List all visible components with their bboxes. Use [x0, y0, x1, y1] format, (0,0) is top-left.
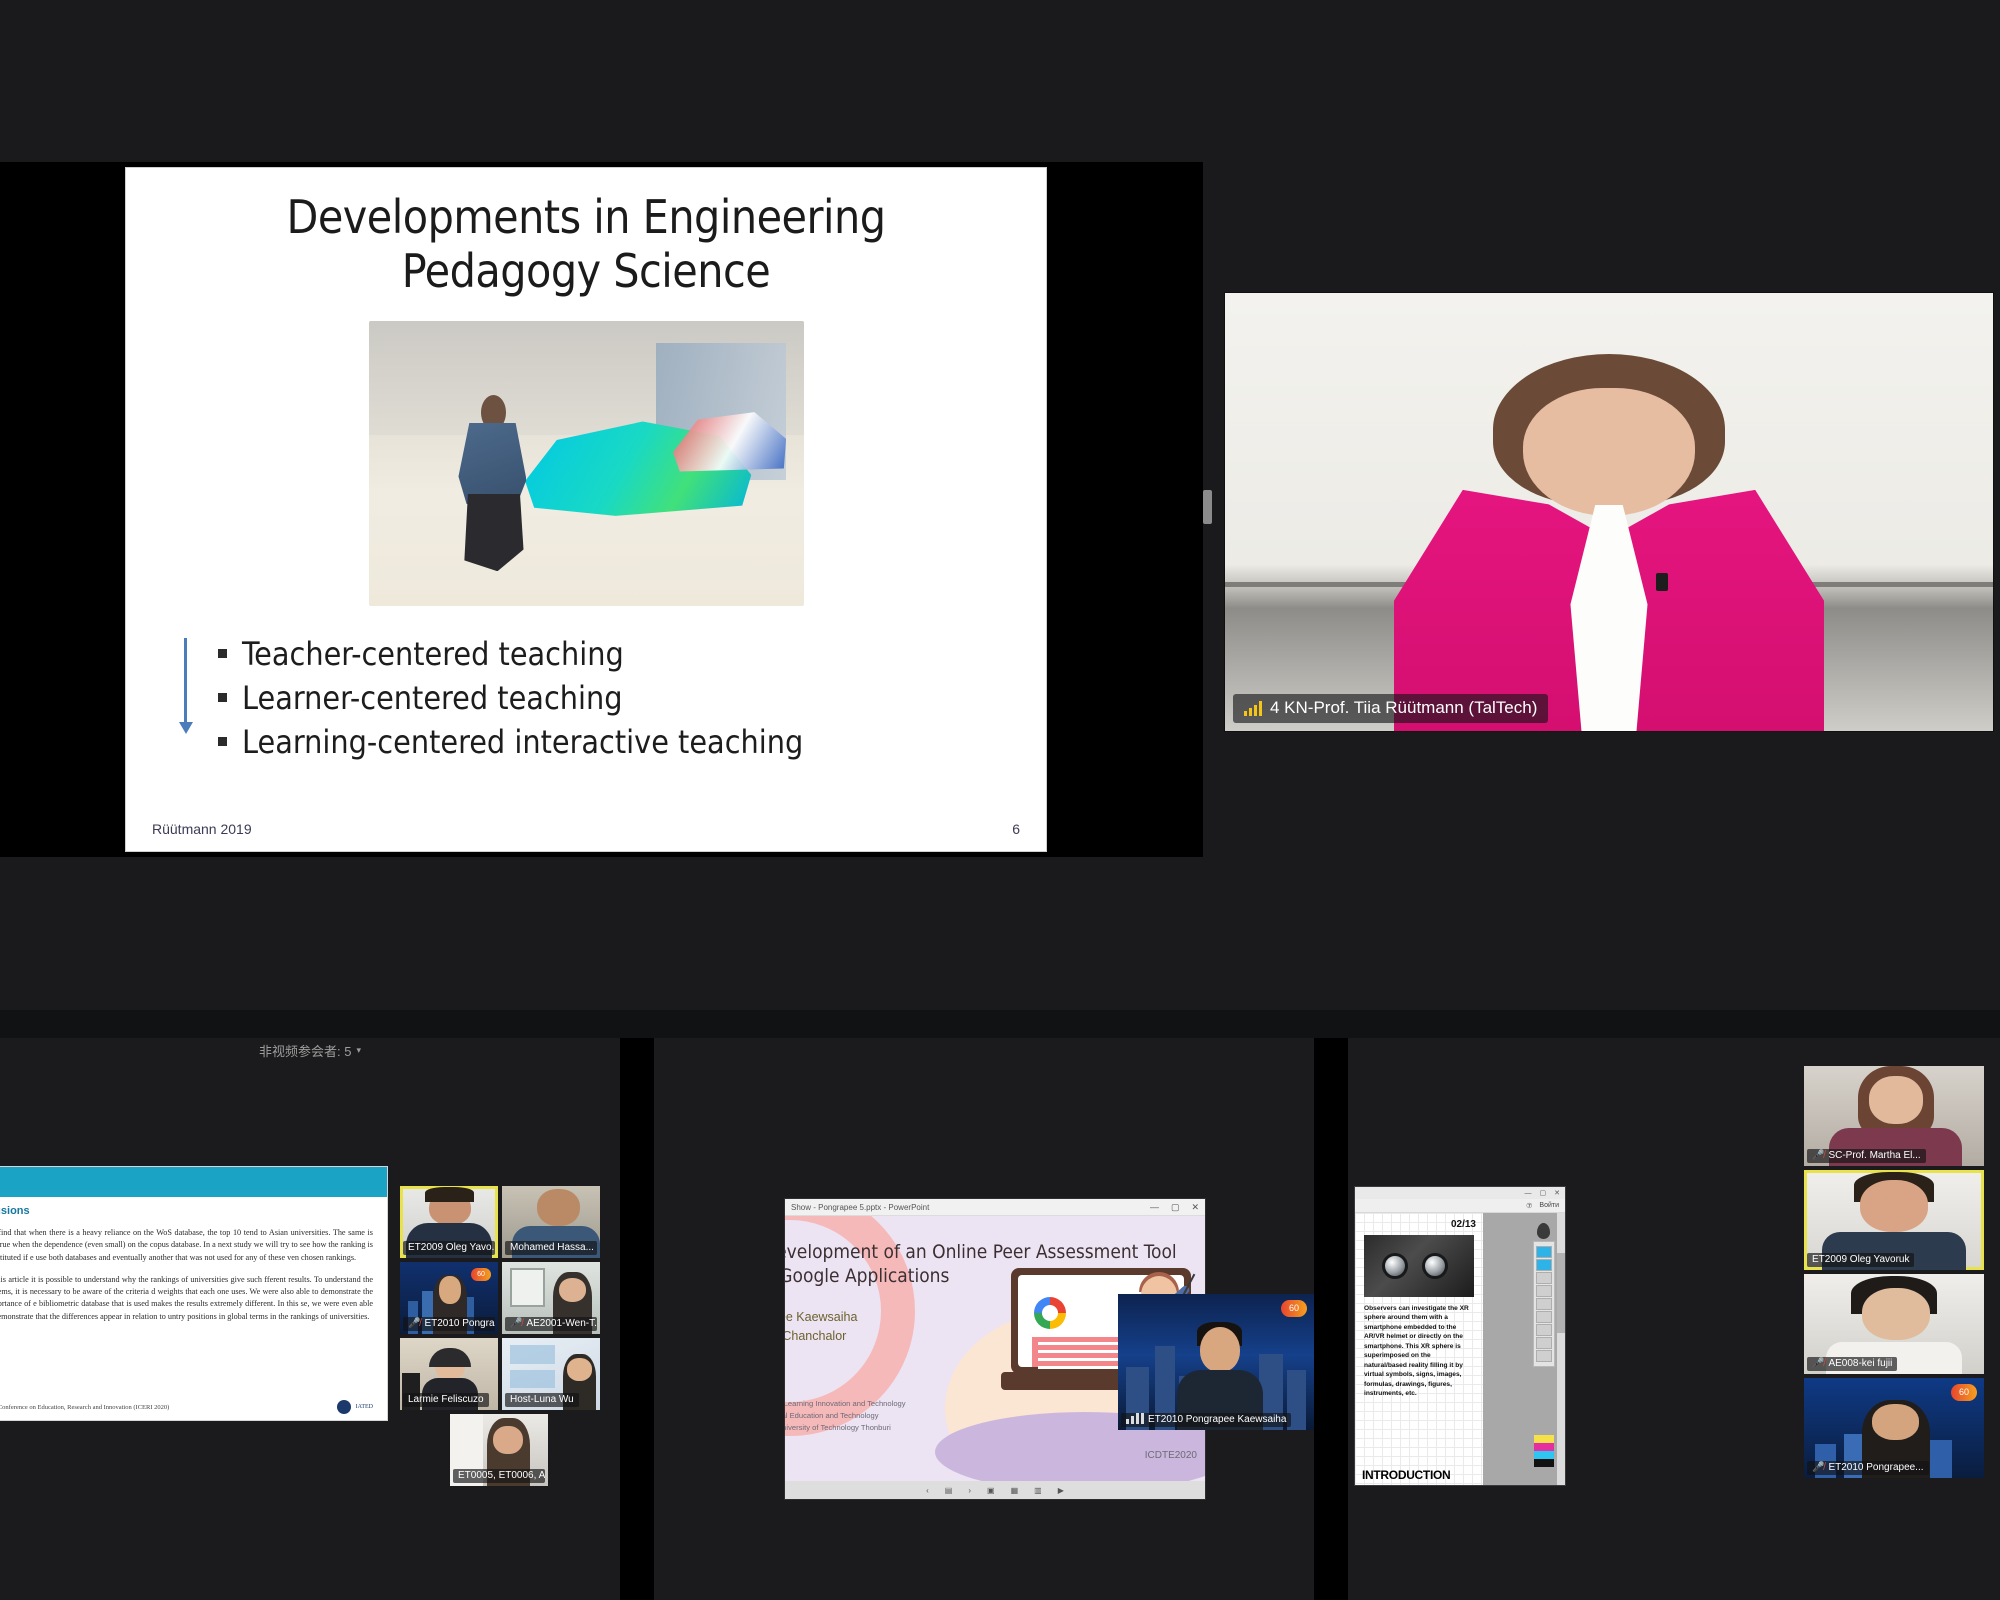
mic-muted-icon: 🎤̸: [1812, 1463, 1824, 1473]
ppt-affiliation: am in Learning Innovation and Technology…: [785, 1398, 906, 1447]
panel-right[interactable]: — ▢ ✕ ⑦ Войти 02/13 Observers can: [1348, 1038, 2000, 1600]
participant-name-text: ET0005, ET0006, A...: [458, 1470, 545, 1481]
document-paragraph: In this article it is possible to unders…: [0, 1274, 373, 1323]
document-header-band: [0, 1167, 387, 1197]
slide-image-ar-engineering: [369, 321, 804, 606]
eye-tool-icon[interactable]: [1536, 1246, 1552, 1258]
slide-footer: Rüütmann 2019 6: [126, 821, 1046, 837]
non-video-participants-label: 非视频参会者: 5: [259, 1041, 351, 1060]
participant-row: ET0005, ET0006, A...: [400, 1414, 600, 1486]
reading-view-icon[interactable]: ▥: [1034, 1486, 1042, 1495]
affiliation-line: dustrial Education and Technology: [785, 1410, 906, 1422]
clipboard-tool-icon[interactable]: [1536, 1350, 1552, 1362]
signin-button[interactable]: Войти: [1539, 1202, 1559, 1209]
maximize-icon[interactable]: ▢: [1171, 1202, 1180, 1213]
participant-name-text: ET2009 Oleg Yavo...: [408, 1242, 495, 1253]
pdf-canvas-area: [1483, 1213, 1565, 1485]
participant-name-label: Host-Luna Wu: [505, 1393, 579, 1407]
figure-torso: [458, 423, 526, 504]
affiliation-line: am in Learning Innovation and Technology: [785, 1398, 906, 1410]
participant-name-label: ET2009 Oleg Yavoruk: [1807, 1253, 1914, 1267]
dot-tool-icon[interactable]: [1536, 1298, 1552, 1310]
shape-tool-icon[interactable]: [1536, 1285, 1552, 1297]
chevron-down-icon[interactable]: ▾: [356, 1045, 361, 1056]
participant-tile[interactable]: 60 🎤̸ ET2010 Pongrapee...: [1804, 1378, 1984, 1478]
participant-name-text: Larmie Feliscuzo: [408, 1394, 484, 1405]
ppt-authors: apee Kaewsaiha ee Chanchalor: [785, 1308, 857, 1346]
participant-tile[interactable]: 🎤̸ AE008-kei fujii: [1804, 1274, 1984, 1374]
participant-name-text: AE2001-Wen-T...: [526, 1318, 597, 1329]
document-heading: clusions: [0, 1205, 387, 1217]
participant-tile[interactable]: Larmie Feliscuzo: [400, 1338, 498, 1410]
panel-left[interactable]: 非视频参会者: 5 ▾ clusions We find that when t…: [0, 1038, 620, 1600]
google-logo-icon: [1034, 1297, 1066, 1329]
mic-muted-icon: 🎤̸: [1812, 1359, 1824, 1369]
color-swatches[interactable]: [1534, 1435, 1554, 1469]
figure-head: [1200, 1327, 1240, 1373]
participant-row: ET2009 Oleg Yavo... Mohamed Hassa...: [400, 1186, 600, 1258]
note-tool-icon[interactable]: [1536, 1324, 1552, 1336]
participant-tile[interactable]: Mohamed Hassa...: [502, 1186, 600, 1258]
engineer-figure: [456, 395, 530, 572]
bullet-square-icon: [218, 737, 227, 746]
affiliation-line: ut's University of Technology Thonburi: [785, 1422, 906, 1434]
participant-name-text: SC-Prof. Martha El...: [1828, 1150, 1920, 1161]
participant-grid: ET2009 Oleg Yavo... Mohamed Hassa...: [400, 1186, 600, 1490]
maximize-icon[interactable]: ▢: [1540, 1189, 1547, 1197]
minimize-icon[interactable]: —: [1150, 1202, 1159, 1213]
pdf-reader-window[interactable]: — ▢ ✕ ⑦ Войти 02/13 Observers can: [1354, 1186, 1566, 1486]
vr-headset-photo: [1364, 1235, 1474, 1297]
speaker-name-label: 4 KN-Prof. Tiia Rüütmann (TalTech): [1233, 694, 1548, 723]
pdf-page-indicator: 02/13: [1362, 1219, 1476, 1230]
panel-divider: [1314, 1038, 1348, 1600]
bullet-item: Learner-centered teaching: [218, 676, 1046, 720]
help-icon[interactable]: ⑦: [1526, 1202, 1532, 1210]
vr-lens-right: [1422, 1253, 1448, 1279]
anniversary-logo: 60: [471, 1268, 491, 1281]
minimize-icon[interactable]: —: [1525, 1190, 1532, 1197]
close-icon[interactable]: ✕: [1191, 1202, 1199, 1213]
document-footer-text: onal Conference on Education, Research a…: [0, 1404, 169, 1411]
document-footer: onal Conference on Education, Research a…: [0, 1400, 387, 1414]
window-controls: — ▢ ✕: [1150, 1202, 1199, 1213]
image-tool-icon[interactable]: [1536, 1337, 1552, 1349]
slide-source-citation: Rüütmann 2019: [152, 821, 252, 837]
slide-title-line2: Pedagogy Science: [126, 244, 1046, 298]
participant-name-label: ET2010 Pongrapee Kaewsaiha: [1121, 1413, 1291, 1427]
annotation-toolbar[interactable]: [1533, 1241, 1555, 1367]
slide-page-number: 6: [1012, 821, 1020, 837]
speaker-face: [1523, 388, 1695, 516]
participant-row: 60 🎤̸ ET2010 Pongra... 🎤̸ AE2001-Wen-T..…: [400, 1262, 600, 1334]
panel-center[interactable]: Show - Pongrapee 5.pptx - PowerPoint — ▢…: [654, 1038, 1314, 1600]
slide-title: Developments in Engineering Pedagogy Sci…: [126, 190, 1046, 299]
non-video-participants-header[interactable]: 非视频参会者: 5 ▾: [0, 1038, 620, 1062]
participant-name-label: 🎤̸ AE2001-Wen-T...: [505, 1317, 597, 1331]
bullet-square-icon: [218, 649, 227, 658]
bullet-label: Learner-centered teaching: [242, 676, 623, 720]
document-paragraph: We find that when there is a heavy relia…: [0, 1227, 373, 1264]
participant-name-label: 🎤̸ AE008-kei fujii: [1807, 1357, 1897, 1371]
bullet-label: Teacher-centered teaching: [242, 632, 624, 676]
panel-divider: [620, 1038, 654, 1600]
shared-document: clusions We find that when there is a he…: [0, 1166, 388, 1421]
clip-microphone-icon: [1656, 573, 1668, 591]
participant-tile[interactable]: 60 🎤̸ ET2010 Pongra...: [400, 1262, 498, 1334]
down-arrow-icon: [184, 638, 187, 724]
participant-name-label: 🎤̸ SC-Prof. Martha El...: [1807, 1149, 1926, 1163]
pdf-body-text: Observers can investigate the XR sphere …: [1364, 1304, 1474, 1399]
top-meeting-area: Developments in Engineering Pedagogy Sci…: [0, 0, 2000, 1010]
pdf-titlebar[interactable]: — ▢ ✕: [1355, 1187, 1565, 1199]
ppt-conference-label: ICDTE2020: [1145, 1450, 1197, 1461]
bullet-item: Teacher-centered teaching: [218, 632, 1046, 676]
pdf-scrollbar[interactable]: [1557, 1213, 1565, 1485]
signal-bars-icon: [1126, 1415, 1144, 1424]
prev-slide-icon[interactable]: ‹: [926, 1486, 929, 1495]
vr-lens-left: [1382, 1253, 1408, 1279]
participant-name-text: ET2010 Pongrapee...: [1828, 1462, 1923, 1473]
participant-name-label: Mohamed Hassa...: [505, 1241, 597, 1255]
iated-logo: IATED: [337, 1400, 373, 1414]
anniversary-logo: 60: [1281, 1300, 1307, 1317]
slideshow-icon[interactable]: ▶: [1058, 1486, 1064, 1495]
powerpoint-titlebar[interactable]: Show - Pongrapee 5.pptx - PowerPoint — ▢…: [785, 1199, 1205, 1216]
logo-text: IATED: [356, 1404, 373, 1410]
participant-tile[interactable]: ET0005, ET0006, A...: [450, 1414, 548, 1486]
anniversary-logo: 60: [1951, 1384, 1977, 1401]
mic-muted-icon: 🎤̸: [408, 1319, 420, 1329]
participant-name-label: 🎤̸ ET2010 Pongra...: [403, 1317, 495, 1331]
participant-name-text: Mohamed Hassa...: [510, 1242, 594, 1253]
participant-tile[interactable]: Host-Luna Wu: [502, 1338, 600, 1410]
slide-bullet-list: Teacher-centered teaching Learner-center…: [218, 632, 1046, 764]
pdf-page: 02/13 Observers can investigate the XR s…: [1355, 1213, 1483, 1485]
link-tool-icon[interactable]: [1536, 1311, 1552, 1323]
participant-row: Larmie Feliscuzo Host-Luna Wu: [400, 1338, 600, 1410]
sorter-view-icon[interactable]: ▦: [1011, 1486, 1019, 1495]
stamp-tool-icon[interactable]: [1536, 1272, 1552, 1284]
participant-name-label: Larmie Feliscuzo: [403, 1393, 489, 1407]
pdf-toolbar[interactable]: ⑦ Войти: [1355, 1199, 1565, 1213]
mic-muted-icon: 🎤̸: [1812, 1151, 1824, 1161]
participant-column: 🎤̸ SC-Prof. Martha El... ET2009 Oleg Yav…: [1804, 1066, 1984, 1482]
browser-lines: [1032, 1337, 1124, 1367]
pdf-body: 02/13 Observers can investigate the XR s…: [1355, 1213, 1565, 1485]
participant-tile[interactable]: ET2009 Oleg Yavo...: [400, 1186, 498, 1258]
pdf-section-heading: INTRODUCTION: [1362, 1468, 1450, 1482]
normal-view-icon[interactable]: ▣: [987, 1486, 995, 1495]
location-pin-icon[interactable]: [1537, 1223, 1550, 1239]
participant-name-text: ET2010 Pongra...: [424, 1318, 495, 1329]
participant-tile[interactable]: 🎤̸ SC-Prof. Martha El...: [1804, 1066, 1984, 1166]
meeting-stage: Developments in Engineering Pedagogy Sci…: [0, 0, 2000, 1600]
ppt-title-line1: Development of an Online Peer Assessment…: [785, 1240, 1193, 1264]
close-icon[interactable]: ✕: [1554, 1189, 1560, 1197]
slide-title-line1: Developments in Engineering: [126, 190, 1046, 244]
presentation-slide: Developments in Engineering Pedagogy Sci…: [125, 167, 1047, 852]
signal-bars-icon: [1244, 701, 1262, 716]
next-slide-icon[interactable]: ›: [968, 1486, 971, 1495]
bullet-label: Learning-centered interactive teaching: [242, 720, 803, 764]
bullet-item: Learning-centered interactive teaching: [218, 720, 1046, 764]
powerpoint-statusbar[interactable]: ‹ ▤ › ▣ ▦ ▥ ▶: [785, 1481, 1205, 1499]
participant-tile[interactable]: 60 ET2010 Pongrapee Kaewsaiha: [1118, 1294, 1314, 1430]
bottom-panels: 非视频参会者: 5 ▾ clusions We find that when t…: [0, 1038, 2000, 1600]
participant-name-text: ET2009 Oleg Yavoruk: [1812, 1254, 1909, 1265]
participant-tile[interactable]: ET2009 Oleg Yavoruk: [1804, 1170, 1984, 1270]
speaker-figure: [1394, 354, 1824, 731]
participant-name-label: 🎤̸ ET2010 Pongrapee...: [1807, 1461, 1929, 1475]
figure-legs: [464, 494, 523, 572]
participant-name-label: ET0005, ET0006, A...: [453, 1469, 545, 1483]
shared-screen-region[interactable]: Developments in Engineering Pedagogy Sci…: [0, 162, 1203, 857]
participant-name-text: AE008-kei fujii: [1828, 1358, 1892, 1369]
participant-name-label: ET2009 Oleg Yavo...: [403, 1241, 495, 1255]
ppt-author-2: ee Chanchalor: [785, 1327, 857, 1346]
bullet-square-icon: [218, 693, 227, 702]
speaker-name-text: 4 KN-Prof. Tiia Rüütmann (TalTech): [1270, 698, 1537, 718]
active-speaker-video[interactable]: 4 KN-Prof. Tiia Rüütmann (TalTech): [1224, 292, 1994, 732]
affiliation-line: ailand: [785, 1435, 906, 1447]
participant-tile[interactable]: 🎤̸ AE2001-Wen-T...: [502, 1262, 600, 1334]
participant-name-text: Host-Luna Wu: [510, 1394, 574, 1405]
share-resize-handle[interactable]: [1203, 490, 1212, 524]
slide-icon[interactable]: ▤: [945, 1486, 953, 1495]
mic-muted-icon: 🎤̸: [510, 1319, 522, 1329]
participant-name-text: ET2010 Pongrapee Kaewsaiha: [1148, 1414, 1286, 1425]
select-tool-icon[interactable]: [1536, 1259, 1552, 1271]
ppt-author-1: apee Kaewsaiha: [785, 1308, 857, 1327]
powerpoint-window-title: Show - Pongrapee 5.pptx - PowerPoint: [791, 1203, 929, 1212]
